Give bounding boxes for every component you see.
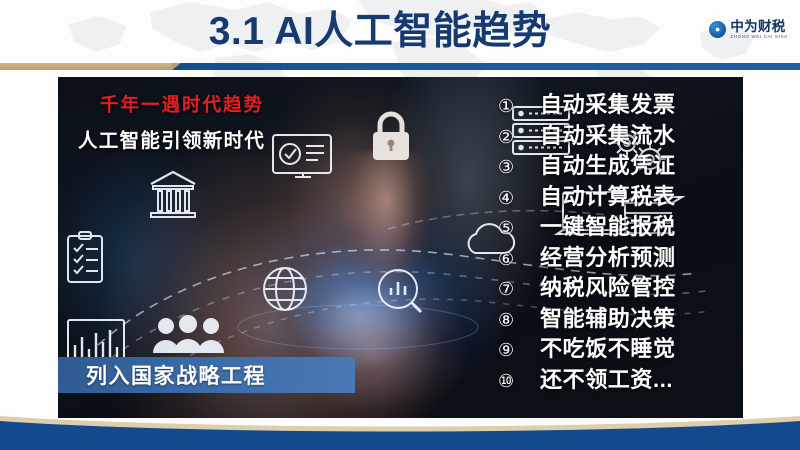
list-item-label: 不吃饭不睡觉 bbox=[540, 331, 676, 363]
headline-red: 千年一遇时代趋势 bbox=[78, 91, 265, 117]
divider-bar-tan bbox=[0, 63, 172, 70]
list-item-label: 自动生成凭证 bbox=[540, 148, 676, 180]
logo-circle-icon bbox=[709, 21, 726, 38]
list-item-number: ② bbox=[498, 127, 540, 148]
list-item-label: 一键智能报税 bbox=[540, 209, 676, 241]
divider-bar-blue bbox=[158, 63, 800, 70]
list-item: ② 自动采集流水 bbox=[498, 118, 738, 149]
list-item-number: ① bbox=[498, 96, 540, 117]
list-item-label: 自动计算税表 bbox=[540, 179, 676, 211]
logo-text-block: 中为财税 ZHONG WEI CAI SHUI bbox=[730, 20, 788, 40]
list-item-label: 经营分析预测 bbox=[540, 240, 676, 272]
list-item: ⑧ 智能辅助决策 bbox=[498, 301, 738, 332]
strategy-banner-text: 列入国家战略工程 bbox=[58, 360, 266, 390]
list-item: ⑩ 还不领工资... bbox=[498, 362, 738, 393]
logo-name-en: ZHONG WEI CAI SHUI bbox=[730, 35, 788, 40]
list-item-number: ⑨ bbox=[498, 340, 540, 361]
list-item-label: 还不领工资... bbox=[540, 362, 673, 394]
globe-network-icon bbox=[264, 268, 306, 310]
monitor-check-icon bbox=[273, 135, 331, 177]
padlock-icon bbox=[373, 114, 409, 160]
slide-header: 3.1 AI人工智能趋势 bbox=[0, 0, 800, 64]
list-item: ⑨ 不吃饭不睡觉 bbox=[498, 331, 738, 362]
list-item: ① 自动采集发票 bbox=[498, 87, 738, 118]
list-item-number: ⑧ bbox=[498, 310, 540, 331]
list-item-label: 自动采集发票 bbox=[540, 87, 676, 119]
list-item-number: ⑦ bbox=[498, 279, 540, 300]
list-item-label: 智能辅助决策 bbox=[540, 301, 676, 333]
clipboard-checklist-icon bbox=[68, 232, 102, 282]
headline-block: 千年一遇时代趋势 人工智能引领新时代 bbox=[78, 91, 265, 153]
list-item-number: ③ bbox=[498, 157, 540, 178]
list-item-number: ⑤ bbox=[498, 218, 540, 239]
feature-list: ① 自动采集发票 ② 自动采集流水 ③ 自动生成凭证 ④ 自动计算税表 ⑤ 一键… bbox=[498, 87, 738, 392]
list-item-number: ⑩ bbox=[498, 371, 540, 392]
hero-image: 千年一遇时代趋势 人工智能引领新时代 列入国家战略工程 ① 自动采集发票 ② 自… bbox=[58, 77, 743, 418]
strategy-banner: 列入国家战略工程 bbox=[58, 357, 355, 393]
list-item-label: 自动采集流水 bbox=[540, 118, 676, 150]
list-item: ⑥ 经营分析预测 bbox=[498, 240, 738, 271]
headline-white: 人工智能引领新时代 bbox=[78, 124, 265, 153]
list-item: ⑦ 纳税风险管控 bbox=[498, 270, 738, 301]
magnifier-chart-icon bbox=[379, 270, 421, 312]
list-item-number: ④ bbox=[498, 188, 540, 209]
brand-logo: 中为财税 ZHONG WEI CAI SHUI bbox=[709, 20, 788, 40]
footer-band bbox=[0, 402, 800, 450]
people-group-icon bbox=[153, 315, 224, 353]
list-item: ④ 自动计算税表 bbox=[498, 179, 738, 210]
slide-canvas: 3.1 AI人工智能趋势 中为财税 ZHONG WEI CAI SHUI bbox=[0, 0, 800, 450]
logo-name-cn: 中为财税 bbox=[730, 20, 788, 34]
list-item: ⑤ 一键智能报税 bbox=[498, 209, 738, 240]
list-item: ③ 自动生成凭证 bbox=[498, 148, 738, 179]
list-item-number: ⑥ bbox=[498, 249, 540, 270]
list-item-label: 纳税风险管控 bbox=[540, 270, 676, 302]
bank-building-icon bbox=[151, 172, 195, 217]
page-title: 3.1 AI人工智能趋势 bbox=[0, 8, 760, 56]
